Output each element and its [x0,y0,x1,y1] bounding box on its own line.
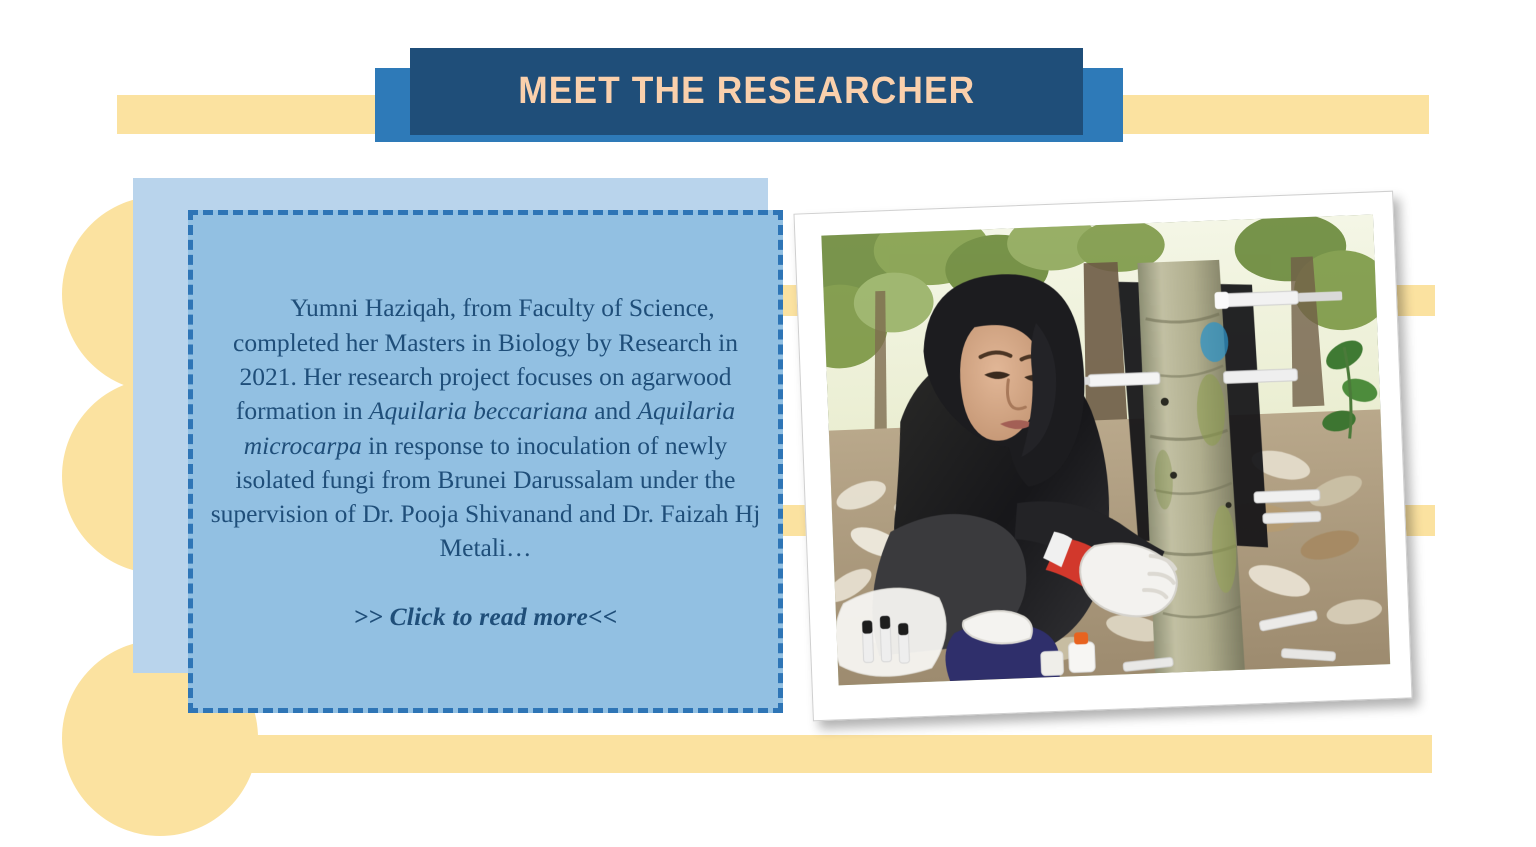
read-more-link[interactable]: >> Click to read more<< [354,602,618,632]
bio-card: Yumni Haziqah, from Faculty of Science, … [188,210,783,713]
researcher-photo [821,214,1390,685]
decor-bar-bottom [133,735,1432,773]
researcher-photo-frame [793,191,1412,722]
species-name-1: Aquilaria beccariana [369,396,588,425]
bio-text-part-2: and [588,396,638,425]
title-banner: MEET THE RESEARCHER [410,48,1083,135]
bio-paragraph: Yumni Haziqah, from Faculty of Science, … [209,291,762,565]
page-title: MEET THE RESEARCHER [518,70,975,113]
